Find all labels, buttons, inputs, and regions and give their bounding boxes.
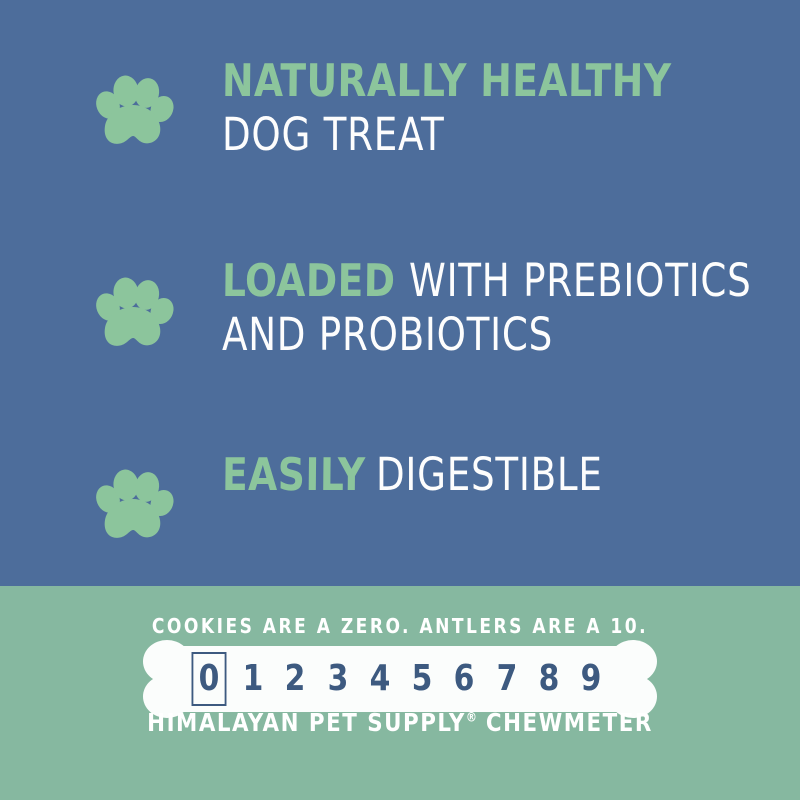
feature-row: EASILY DIGESTIBLE [78, 452, 623, 544]
scale-digit[interactable]: 3 [322, 661, 353, 697]
paw-print-icon [78, 58, 188, 150]
bone-scale-graphic: 0 1 2 3 4 5 6 7 8 9 [143, 640, 657, 718]
scale-digit[interactable]: 7 [491, 661, 522, 697]
product-feature-graphic: NATURALLY HEALTHY DOG TREAT LOADED WITH … [0, 0, 800, 800]
feature-line: DOG TREAT [222, 112, 705, 157]
chewmeter-panel: COOKIES ARE A ZERO. ANTLERS ARE A 10. 0 … [0, 586, 800, 800]
scale-digit-selected[interactable]: 0 [192, 652, 227, 706]
feature-accent-text: LOADED [222, 258, 396, 303]
feature-line: EASILY DIGESTIBLE [222, 452, 623, 497]
features-panel: NATURALLY HEALTHY DOG TREAT LOADED WITH … [0, 0, 800, 586]
brand-name: HIMALAYAN PET SUPPLY [147, 708, 466, 737]
feature-text: LOADED WITH PREBIOTICS AND PROBIOTICS [188, 258, 781, 357]
chewmeter-scale: 0 1 2 3 4 5 6 7 8 9 [186, 646, 614, 712]
feature-line: NATURALLY HEALTHY [222, 58, 705, 103]
feature-accent-text: NATURALLY HEALTHY [222, 58, 672, 103]
paw-print-icon-svg [92, 466, 174, 544]
scale-digit[interactable]: 9 [575, 661, 606, 697]
feature-row: NATURALLY HEALTHY DOG TREAT [78, 58, 705, 157]
scale-digit[interactable]: 2 [280, 661, 311, 697]
feature-plain-text: DOG TREAT [222, 112, 444, 157]
chewmeter-caption: HIMALAYAN PET SUPPLY® CHEWMETER [20, 708, 780, 737]
scale-digit[interactable]: 5 [406, 661, 437, 697]
paw-print-icon-svg [92, 274, 174, 352]
scale-digit[interactable]: 8 [533, 661, 564, 697]
feature-plain-text: DIGESTIBLE [376, 452, 603, 497]
feature-plain-text: AND PROBIOTICS [222, 312, 553, 357]
feature-plain-text: WITH PREBIOTICS [409, 258, 752, 303]
paw-print-icon [78, 452, 188, 544]
caption-suffix: CHEWMETER [477, 708, 653, 737]
feature-line: LOADED WITH PREBIOTICS [222, 258, 781, 303]
feature-row: LOADED WITH PREBIOTICS AND PROBIOTICS [78, 258, 781, 357]
feature-text: EASILY DIGESTIBLE [188, 452, 623, 497]
feature-text: NATURALLY HEALTHY DOG TREAT [188, 58, 705, 157]
paw-print-icon [78, 258, 188, 352]
scale-digit[interactable]: 1 [238, 661, 269, 697]
registered-trademark-icon: ® [466, 711, 477, 726]
scale-digit[interactable]: 6 [449, 661, 480, 697]
feature-line: AND PROBIOTICS [222, 312, 781, 357]
chewmeter-tagline: COOKIES ARE A ZERO. ANTLERS ARE A 10. [20, 614, 780, 638]
feature-accent-text: EASILY [222, 452, 366, 497]
scale-digit[interactable]: 4 [364, 661, 395, 697]
paw-print-icon-svg [92, 72, 174, 150]
